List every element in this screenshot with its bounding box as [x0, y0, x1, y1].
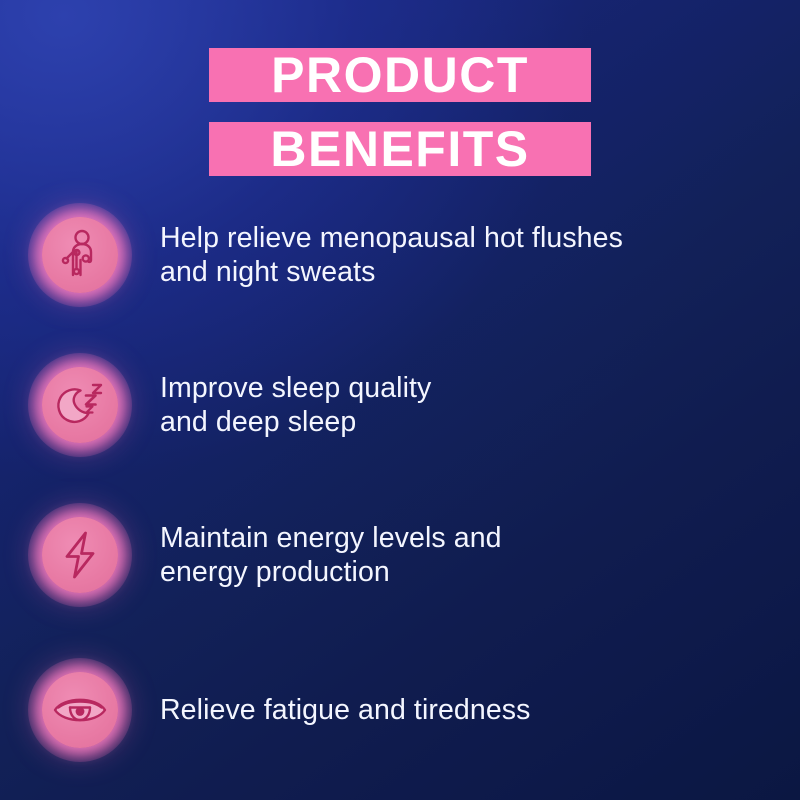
lightning-bolt-energy-icon: [42, 517, 118, 593]
title-bar-line1: PRODUCT: [209, 48, 591, 102]
benefit-row: Help relieve menopausal hot flushes and …: [0, 217, 800, 293]
page-title: PRODUCT BENEFITS: [0, 48, 800, 176]
benefit-row: Maintain energy levels and energy produc…: [0, 517, 800, 593]
benefit-row: Relieve fatigue and tiredness: [0, 672, 800, 748]
benefit-row: Improve sleep quality and deep sleep: [0, 367, 800, 443]
benefit-text: Maintain energy levels and energy produc…: [160, 521, 502, 589]
benefit-icon-slot: [0, 217, 160, 293]
benefit-text: Relieve fatigue and tiredness: [160, 693, 530, 727]
benefit-icon-slot: [0, 672, 160, 748]
moon-sleep-zzz-icon: [42, 367, 118, 443]
title-line2-text: BENEFITS: [270, 124, 529, 174]
benefit-icon-slot: [0, 517, 160, 593]
person-hot-flush-icon: [42, 217, 118, 293]
benefit-text: Improve sleep quality and deep sleep: [160, 371, 431, 439]
product-benefits-poster: PRODUCT BENEFITS: [0, 0, 800, 800]
title-bar-line2: BENEFITS: [209, 122, 591, 176]
title-line1-text: PRODUCT: [271, 50, 529, 100]
benefit-icon-slot: [0, 367, 160, 443]
benefit-text: Help relieve menopausal hot flushes and …: [160, 221, 623, 289]
tired-eye-icon: [42, 672, 118, 748]
